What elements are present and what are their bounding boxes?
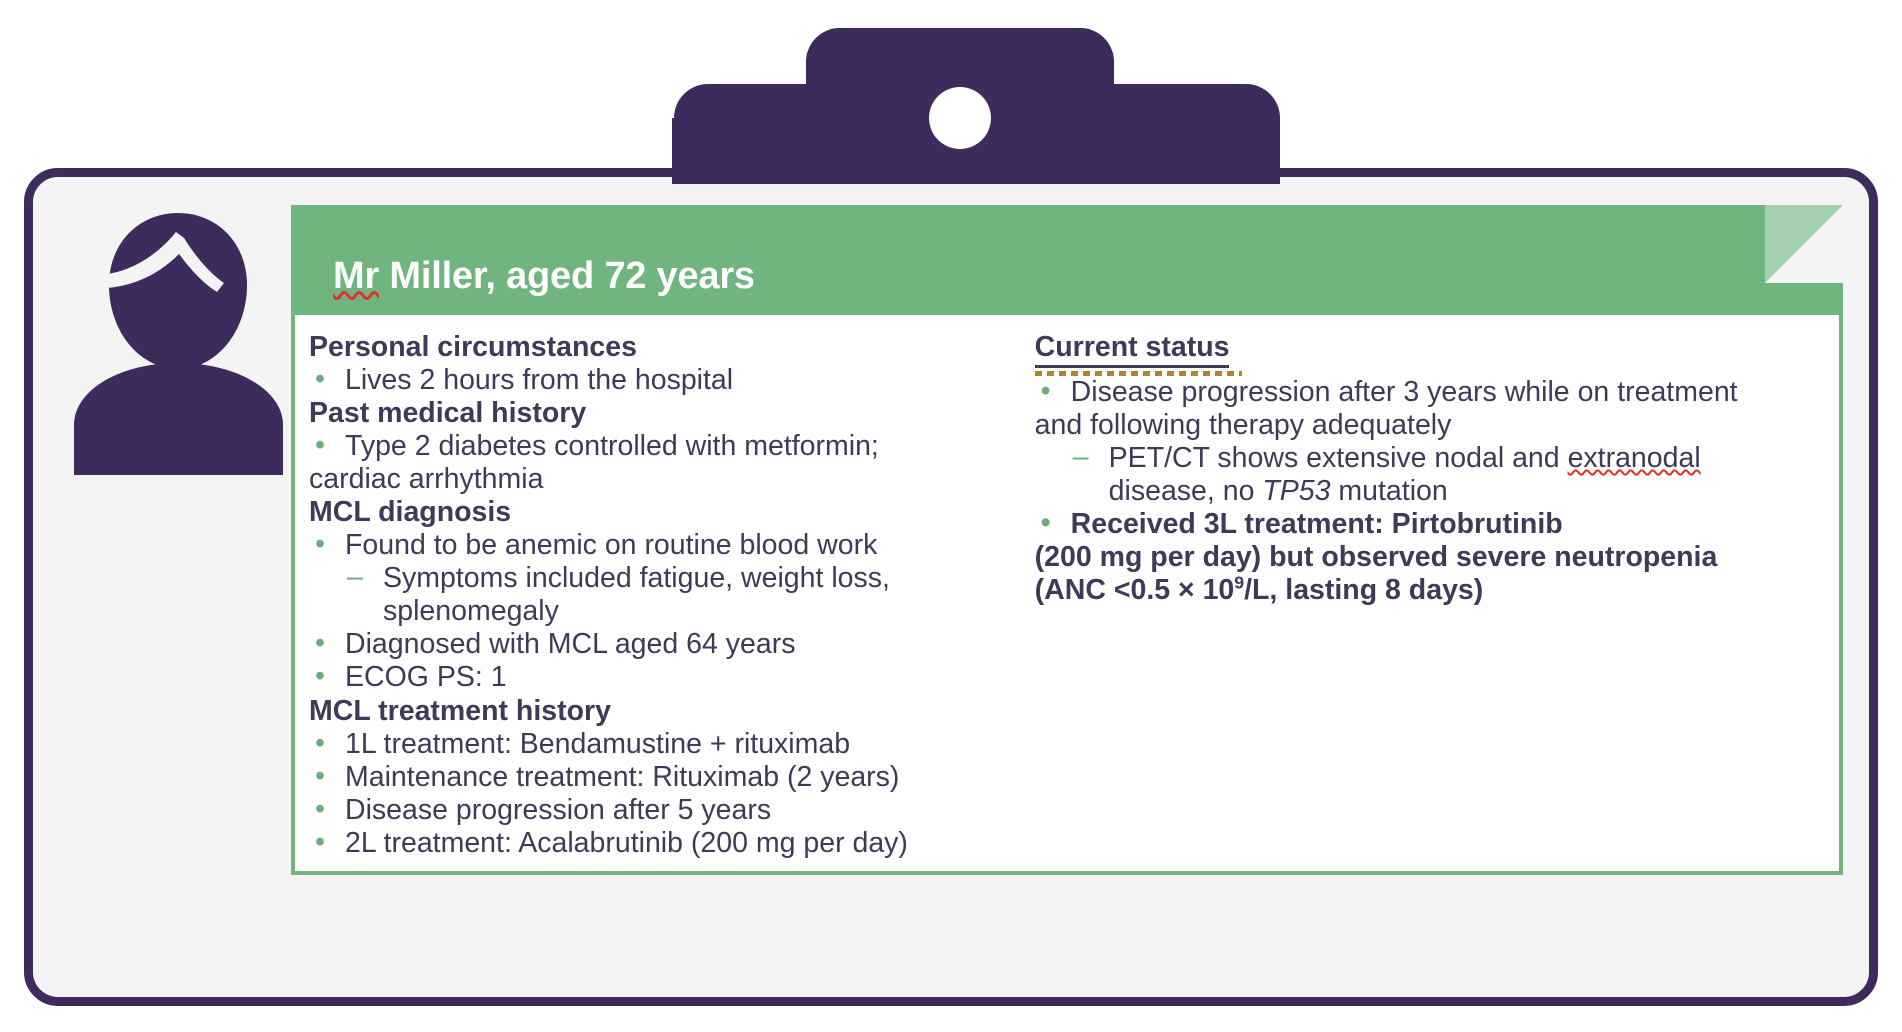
list-item-text: Disease progression after 5 years	[345, 794, 771, 826]
list-item-text-continued: disease, no TP53 mutation	[1109, 475, 1825, 508]
list-item-text: 1L treatment: Bendamustine + rituximab	[345, 728, 850, 760]
clipboard-clip-icon	[600, 14, 1320, 184]
section-heading-past-medical-history: Past medical history	[309, 397, 1011, 430]
list-item-text: PET/CT shows extensive nodal and	[1109, 442, 1568, 474]
list-item-text-continued: splenomegaly	[383, 595, 1011, 628]
list-item: ECOG PS: 1	[309, 661, 1011, 694]
list-item-bold: Received 3L treatment: Pirtobrutinib(200…	[1035, 508, 1825, 607]
list-item-text: Lives 2 hours from the hospital	[345, 364, 733, 396]
list-item: 2L treatment: Acalabrutinib (200 mg per …	[309, 827, 1011, 860]
list-item: Disease progression after 3 years while …	[1035, 376, 1825, 442]
section-heading-current-status: Current status	[1035, 331, 1230, 368]
list-item-text-continued-b: mutation	[1331, 475, 1448, 507]
record-content-panel: Personal circumstances Lives 2 hours fro…	[291, 315, 1843, 875]
exponent: 9	[1234, 573, 1244, 593]
page-fold-corner-icon	[1765, 205, 1843, 283]
list-item: Maintenance treatment: Rituximab (2 year…	[309, 761, 1011, 794]
list-item-sub: PET/CT shows extensive nodal and extrano…	[1035, 442, 1825, 508]
list-item-text: Received 3L treatment: Pirtobrutinib	[1071, 508, 1563, 540]
section-heading-mcl-treatment-history: MCL treatment history	[309, 695, 1011, 728]
list-item: Disease progression after 5 years	[309, 794, 1011, 827]
patient-record-body: Mr Miller, aged 72 years Personal circum…	[291, 205, 1843, 970]
page-title: Mr Miller, aged 72 years	[333, 255, 755, 298]
record-header-bar: Mr Miller, aged 72 years	[291, 205, 1843, 315]
left-column: Personal circumstances Lives 2 hours fro…	[295, 331, 1021, 871]
list-item: Diagnosed with MCL aged 64 years	[309, 628, 1011, 661]
section-heading-mcl-diagnosis: MCL diagnosis	[309, 496, 1011, 529]
list-item-text: Found to be anemic on routine blood work	[345, 529, 877, 561]
list-item: Lives 2 hours from the hospital	[309, 364, 1011, 397]
list-item-text-misspelled: extranodal	[1568, 442, 1701, 474]
list-item-text-continued-a: disease, no	[1109, 475, 1263, 507]
patient-record-card: Mr Miller, aged 72 years Personal circum…	[24, 168, 1878, 1006]
list-item: Found to be anemic on routine blood work	[309, 529, 1011, 562]
list-personal-circumstances: Lives 2 hours from the hospital	[309, 364, 1011, 397]
list-item-text: Maintenance treatment: Rituximab (2 year…	[345, 761, 899, 793]
list-item-text-continued-1: (200 mg per day) but observed severe neu…	[1035, 541, 1825, 574]
list-item: Type 2 diabetes controlled with metformi…	[309, 430, 1011, 496]
list-mcl-diagnosis: Found to be anemic on routine blood work…	[309, 529, 1011, 694]
section-heading-personal-circumstances: Personal circumstances	[309, 331, 1011, 364]
list-item-text: 2L treatment: Acalabrutinib (200 mg per …	[345, 827, 908, 859]
page-title-rest: Miller, aged 72 years	[379, 255, 755, 297]
list-item-sub: Symptoms included fatigue, weight loss,s…	[309, 562, 1011, 628]
anc-value-prefix: (ANC <0.5 × 10	[1035, 574, 1235, 606]
list-item-text: ECOG PS: 1	[345, 661, 507, 693]
list-item-text: Diagnosed with MCL aged 64 years	[345, 628, 795, 660]
patient-avatar-icon	[71, 205, 286, 475]
list-mcl-treatment-history: 1L treatment: Bendamustine + rituximab M…	[309, 728, 1011, 860]
list-item-text: Disease progression after 3 years while …	[1071, 376, 1738, 408]
list-item-text: Symptoms included fatigue, weight loss,	[383, 562, 890, 594]
list-item-text-continued: and following therapy adequately	[1035, 409, 1825, 442]
list-item-text: Type 2 diabetes controlled with metformi…	[345, 430, 879, 462]
list-item-text-continued-2: (ANC <0.5 × 109/L, lasting 8 days)	[1035, 574, 1825, 607]
right-column: Current status Disease progression after…	[1021, 331, 1839, 871]
anc-value-suffix: /L, lasting 8 days)	[1244, 574, 1483, 606]
list-current-status: Disease progression after 3 years while …	[1035, 376, 1825, 607]
list-item-text-continued: cardiac arrhythmia	[309, 463, 1011, 496]
page-title-prefix: Mr	[333, 255, 379, 297]
list-item: 1L treatment: Bendamustine + rituximab	[309, 728, 1011, 761]
list-past-medical-history: Type 2 diabetes controlled with metformi…	[309, 430, 1011, 496]
gene-name-tp53: TP53	[1262, 475, 1330, 507]
